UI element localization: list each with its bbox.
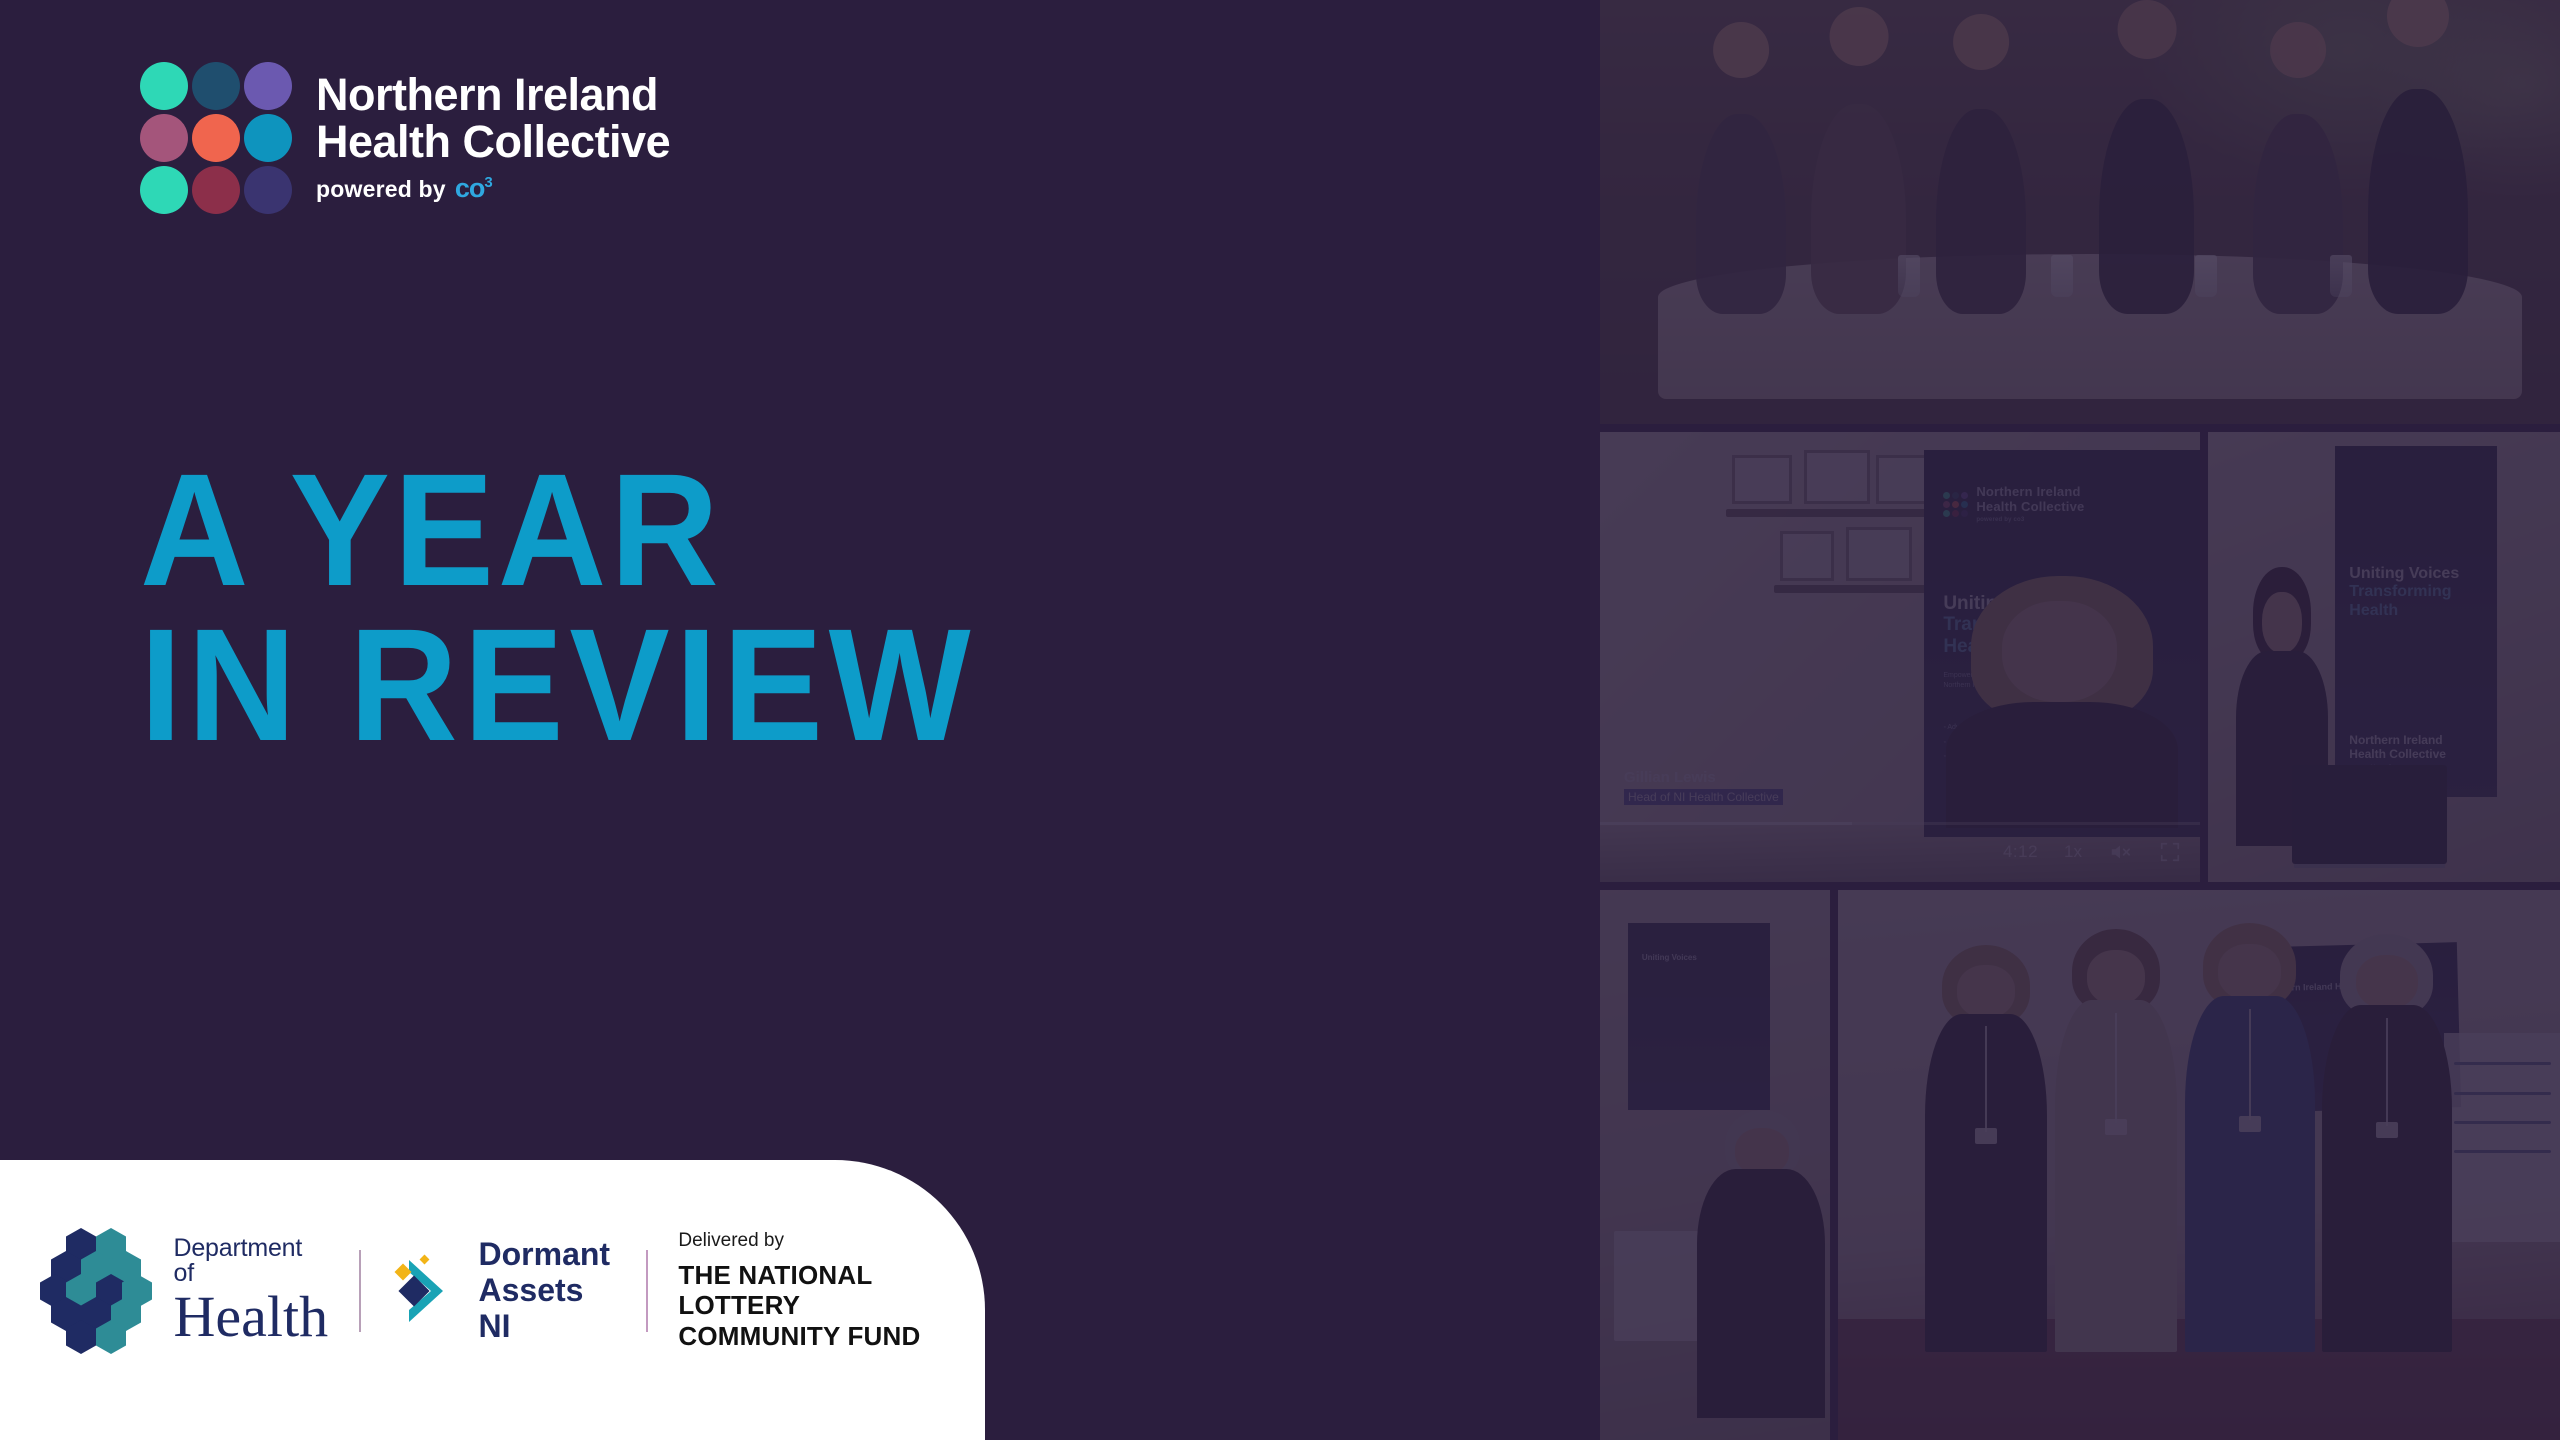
collage-row-middle: Northern Ireland Health Collective power…	[1600, 432, 2560, 882]
single-scene: Uniting Voices	[1600, 890, 1830, 1440]
logo-dot-1	[140, 62, 188, 110]
co3-logo: co3	[455, 173, 492, 204]
page-title: A YEAR IN REVIEW	[140, 452, 976, 762]
funder-divider-2	[646, 1250, 648, 1332]
dormant-line-1: Dormant	[479, 1237, 617, 1273]
single-poster: Uniting Voices	[1628, 923, 1771, 1110]
logo-dot-7	[140, 166, 188, 214]
delegate	[1697, 1110, 1826, 1418]
dormant-assets-logo: Dormant Assets NI	[391, 1237, 617, 1344]
group-of-delegates-photo: Northern Ireland Health Collective	[1838, 890, 2560, 1440]
meeting-attendee	[1811, 104, 1906, 314]
department-of-health-logo: Department of Health	[40, 1228, 329, 1354]
dormant-line-2: Assets NI	[479, 1273, 617, 1345]
collage-row-bottom: Uniting Voices Northern Ireland Health C…	[1600, 890, 2560, 1440]
doh-line-1: Department of	[174, 1236, 329, 1286]
delegate	[2322, 934, 2452, 1352]
funder-divider-1	[359, 1250, 361, 1332]
delegate	[1925, 945, 2048, 1352]
delegate	[2185, 923, 2315, 1352]
logo-dot-2	[192, 62, 240, 110]
brand-line-2: Health Collective	[316, 119, 670, 166]
video-player-photo: Northern Ireland Health Collective power…	[1600, 432, 2200, 882]
photo-collage: Northern Ireland Health Collective power…	[1600, 0, 2560, 1440]
logo-dot-3	[244, 62, 292, 110]
video-speed-button[interactable]: 1x	[2064, 842, 2082, 862]
powered-by-label: powered by	[316, 176, 446, 203]
banner-logo: Northern Ireland Health Collective power…	[1943, 485, 2180, 524]
brand-logo: Northern Ireland Health Collective power…	[140, 62, 670, 214]
delegate	[2055, 929, 2178, 1353]
stand-headline-white: Uniting Voices	[2349, 565, 2459, 582]
meeting-attendee	[1936, 109, 2026, 314]
funder-logos-panel: Department of Health Dormant Assets NI D…	[0, 1160, 985, 1440]
speaker-role: Head of NI Health Collective	[1624, 789, 1783, 805]
dormant-assets-wordmark: Dormant Assets NI	[479, 1237, 617, 1344]
video-lower-third: Gillian Lewis Head of NI Health Collecti…	[1624, 769, 1783, 806]
nlcf-line-2: COMMUNITY FUND	[678, 1321, 920, 1351]
exhibition-stand-photo: Uniting Voices Transforming Health North…	[2208, 432, 2560, 882]
nlcf-line-1: THE NATIONAL LOTTERY	[678, 1260, 872, 1321]
brand-wordmark: Northern Ireland Health Collective power…	[316, 72, 670, 204]
video-control-bar[interactable]: 4:12 1x	[1600, 822, 2200, 882]
single-poster-text: Uniting Voices	[1642, 953, 1756, 963]
doh-wordmark: Department of Health	[174, 1236, 329, 1346]
dormant-assets-mark	[391, 1254, 461, 1328]
banner-brand-line2: Health Collective	[1976, 500, 2084, 515]
logo-dot-6	[244, 114, 292, 162]
nlcf-wordmark: THE NATIONAL LOTTERY COMMUNITY FUND	[678, 1260, 985, 1352]
meeting-attendee	[2368, 89, 2468, 314]
delivered-by-label: Delivered by	[678, 1230, 985, 1252]
brand-powered-by: powered by co3	[316, 173, 670, 204]
boardroom-meeting-photo	[1600, 0, 2560, 424]
fullscreen-icon[interactable]	[2158, 841, 2182, 863]
flipchart-board	[2444, 1033, 2560, 1242]
video-speaker	[1936, 576, 2188, 828]
boardroom-scene	[1600, 0, 2560, 424]
brand-line-1: Northern Ireland	[316, 72, 670, 119]
meeting-attendee	[2099, 99, 2194, 314]
stand-scene: Uniting Voices Transforming Health North…	[2208, 432, 2560, 882]
logo-dot-grid	[140, 62, 292, 214]
doh-hexagon-mark	[40, 1228, 152, 1354]
stand-headline-accent: Transforming Health	[2349, 583, 2451, 618]
stand-banner: Uniting Voices Transforming Health North…	[2335, 446, 2497, 797]
logo-dot-4	[140, 114, 188, 162]
title-line-1: A YEAR	[140, 452, 976, 607]
group-scene: Northern Ireland Health Collective	[1838, 890, 2560, 1440]
laptop	[2292, 765, 2447, 864]
logo-dot-8	[192, 166, 240, 214]
doh-line-2: Health	[174, 1288, 329, 1346]
speaker-muted-icon[interactable]	[2108, 841, 2132, 863]
banner-brand-sub: powered by co3	[1976, 517, 2084, 524]
video-scene: Northern Ireland Health Collective power…	[1600, 432, 2200, 882]
speaker-name: Gillian Lewis	[1624, 769, 1783, 786]
banner-logo-dots	[1943, 492, 1968, 517]
meeting-attendee	[1696, 114, 1786, 314]
banner-brand-line1: Northern Ireland	[1976, 485, 2084, 500]
logo-dot-5	[192, 114, 240, 162]
logo-dot-9	[244, 166, 292, 214]
stand-brand-line1: Northern Ireland	[2349, 733, 2442, 747]
stand-banner-headline: Uniting Voices Transforming Health	[2349, 565, 2482, 620]
national-lottery-community-fund-logo: Delivered by THE NATIONAL LOTTERY COMMUN…	[678, 1230, 985, 1351]
collage-row-top	[1600, 0, 2560, 424]
stand-brand-line2: Health Collective	[2349, 747, 2446, 761]
video-time: 4:12	[2003, 842, 2038, 862]
video-progress-bar[interactable]	[1600, 822, 2200, 825]
single-delegate-photo: Uniting Voices	[1600, 890, 1830, 1440]
title-line-2: IN REVIEW	[140, 607, 976, 762]
